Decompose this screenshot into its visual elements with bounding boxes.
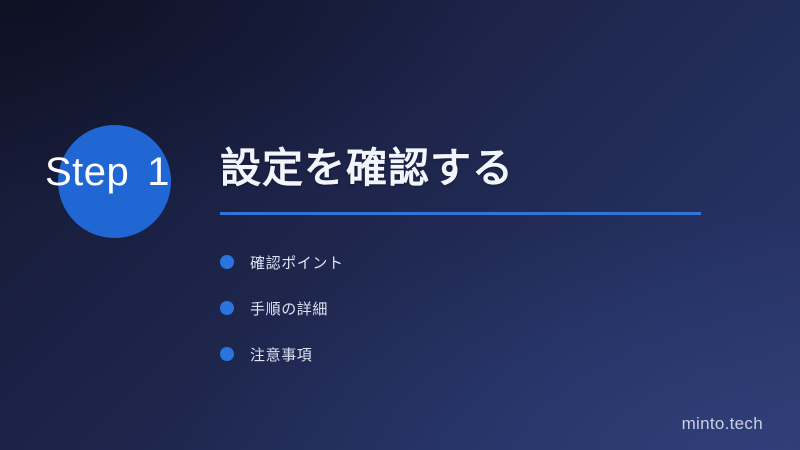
bullet-dot-icon [220,255,234,269]
list-item-label: 注意事項 [250,344,312,365]
list-item-label: 確認ポイント [250,252,344,273]
slide-canvas: Step1 設定を確認する 確認ポイント 手順の詳細 注意事項 minto.te… [0,0,800,450]
step-badge-prefix: Step [45,150,129,194]
list-item-label: 手順の詳細 [250,298,328,319]
slide-title: 設定を確認する [220,146,514,192]
watermark: minto.tech [682,414,763,434]
list-item: 手順の詳細 [220,285,344,331]
list-item: 注意事項 [220,331,344,377]
bullet-dot-icon [220,301,234,315]
step-badge-label: Step1 [45,152,170,192]
list-item: 確認ポイント [220,239,344,285]
step-badge-number: 1 [147,150,170,194]
title-divider [220,212,701,215]
bullet-list: 確認ポイント 手順の詳細 注意事項 [220,239,344,377]
bullet-dot-icon [220,347,234,361]
